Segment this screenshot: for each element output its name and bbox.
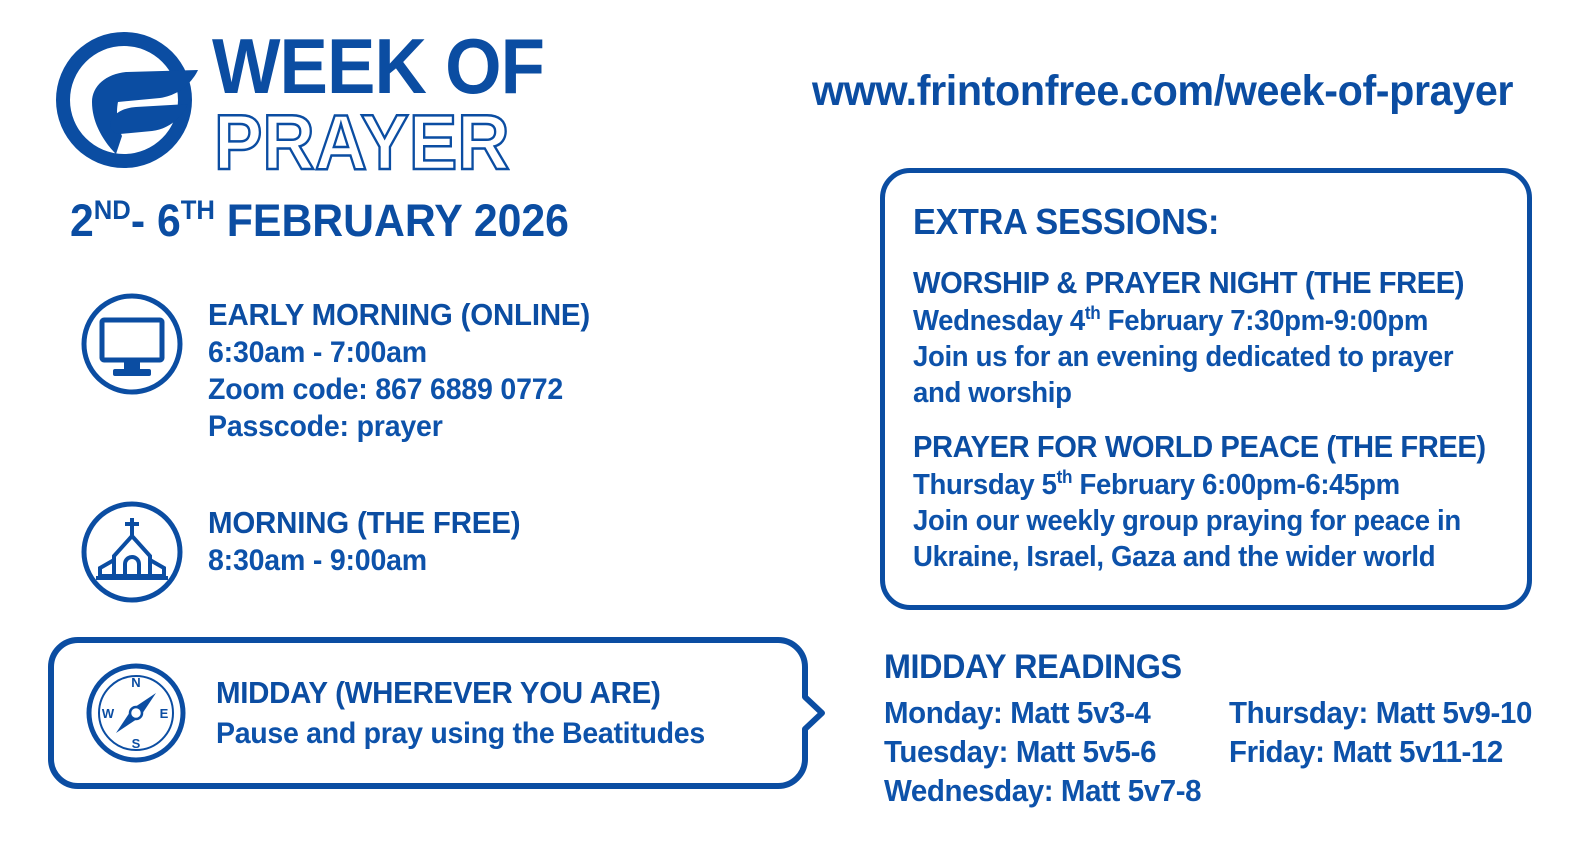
wordmark-week-of: WEEK OF — [212, 28, 603, 104]
extra-session-description-line: Join us for an evening dedicated to pray… — [913, 339, 1472, 375]
week-of-prayer-poster: WEEK OF PRAYER 2ND- 6TH FEBRUARY 2026 ww… — [0, 0, 1592, 849]
extra-session-date-prefix: Thursday 5 — [913, 469, 1057, 501]
extra-sessions-panel: EXTRA SESSIONS: WORSHIP & PRAYER NIGHT (… — [880, 168, 1532, 610]
wordmark-prayer: PRAYER — [214, 106, 603, 178]
reading-item: Tuesday: Matt 5v5-6 — [884, 732, 1201, 771]
session-early-morning: EARLY MORNING (ONLINE) 6:30am - 7:00am Z… — [80, 292, 610, 445]
midday-callout-text: MIDDAY (WHEREVER YOU ARE) Pause and pray… — [216, 672, 731, 754]
extra-session-description-line: Ukraine, Israel, Gaza and the wider worl… — [913, 539, 1472, 575]
frinton-free-logo-icon — [48, 24, 200, 176]
extra-session-prayer-world-peace: PRAYER FOR WORLD PEACE (THE FREE) Thursd… — [913, 427, 1501, 575]
session-zoom-code: Zoom code: 867 6889 0772 — [208, 371, 590, 408]
website-url[interactable]: www.frintonfree.com/week-of-prayer — [812, 66, 1513, 116]
extra-session-datetime: Thursday 5th February 6:00pm-6:45pm — [913, 467, 1472, 503]
reading-item: Monday: Matt 5v3-4 — [884, 693, 1201, 732]
midday-callout: N E S W MIDDAY (WHEREVER YOU ARE) Pause … — [48, 637, 808, 789]
date-to-day: 6 — [157, 195, 181, 246]
extra-session-date-rest: February 7:30pm-9:00pm — [1100, 305, 1428, 337]
session-early-morning-text: EARLY MORNING (ONLINE) 6:30am - 7:00am Z… — [208, 292, 610, 445]
church-icon — [80, 500, 184, 604]
extra-session-date-suffix: th — [1085, 303, 1100, 323]
reading-item: Thursday: Matt 5v9-10 — [1229, 693, 1532, 732]
midday-readings-column-b: Thursday: Matt 5v9-10 Friday: Matt 5v11-… — [1229, 693, 1548, 771]
compass-label-south: S — [132, 736, 141, 751]
extra-session-title: WORSHIP & PRAYER NIGHT (THE FREE) — [913, 263, 1466, 303]
midday-subtitle: Pause and pray using the Beatitudes — [216, 714, 705, 754]
extra-session-title: PRAYER FOR WORLD PEACE (THE FREE) — [913, 427, 1466, 467]
extra-session-date-rest: February 6:00pm-6:45pm — [1072, 469, 1400, 501]
session-passcode: Passcode: prayer — [208, 408, 590, 445]
midday-readings-section: MIDDAY READINGS Monday: Matt 5v3-4 Tuesd… — [884, 645, 1584, 813]
extra-sessions-heading: EXTRA SESSIONS: — [913, 199, 1472, 245]
extra-session-datetime: Wednesday 4th February 7:30pm-9:00pm — [913, 303, 1472, 339]
date-separator: - — [131, 195, 157, 246]
reading-item: Wednesday: Matt 5v7-8 — [884, 771, 1201, 810]
session-morning-text: MORNING (THE FREE) 8:30am - 9:00am — [208, 500, 537, 579]
compass-label-north: N — [131, 675, 140, 690]
event-date-range: 2ND- 6TH FEBRUARY 2026 — [70, 196, 569, 246]
extra-session-date-prefix: Wednesday 4 — [913, 305, 1085, 337]
extra-session-description-line: and worship — [913, 375, 1472, 411]
monitor-icon — [80, 292, 184, 396]
date-month-year: FEBRUARY 2026 — [215, 195, 569, 246]
session-title: EARLY MORNING (ONLINE) — [208, 296, 590, 334]
compass-label-west: W — [102, 706, 115, 721]
compass-label-east: E — [160, 706, 169, 721]
session-time: 8:30am - 9:00am — [208, 542, 520, 579]
reading-item: Friday: Matt 5v11-12 — [1229, 732, 1532, 771]
extra-session-worship-prayer-night: WORSHIP & PRAYER NIGHT (THE FREE) Wednes… — [913, 263, 1501, 411]
extra-session-date-suffix: th — [1057, 467, 1072, 487]
midday-readings-column-a: Monday: Matt 5v3-4 Tuesday: Matt 5v5-6 W… — [884, 693, 1218, 810]
session-title: MORNING (THE FREE) — [208, 504, 520, 542]
extra-session-description-line: Join our weekly group praying for peace … — [913, 503, 1472, 539]
date-to-suffix: TH — [181, 195, 215, 225]
date-from-day: 2 — [70, 195, 94, 246]
session-morning: MORNING (THE FREE) 8:30am - 9:00am — [80, 500, 537, 604]
date-from-suffix: ND — [94, 195, 131, 225]
compass-icon: N E S W — [84, 661, 188, 765]
midday-title: MIDDAY (WHEREVER YOU ARE) — [216, 672, 705, 714]
wordmark: WEEK OF PRAYER — [212, 28, 632, 178]
session-time: 6:30am - 7:00am — [208, 334, 590, 371]
midday-readings-heading: MIDDAY READINGS — [884, 645, 1549, 689]
